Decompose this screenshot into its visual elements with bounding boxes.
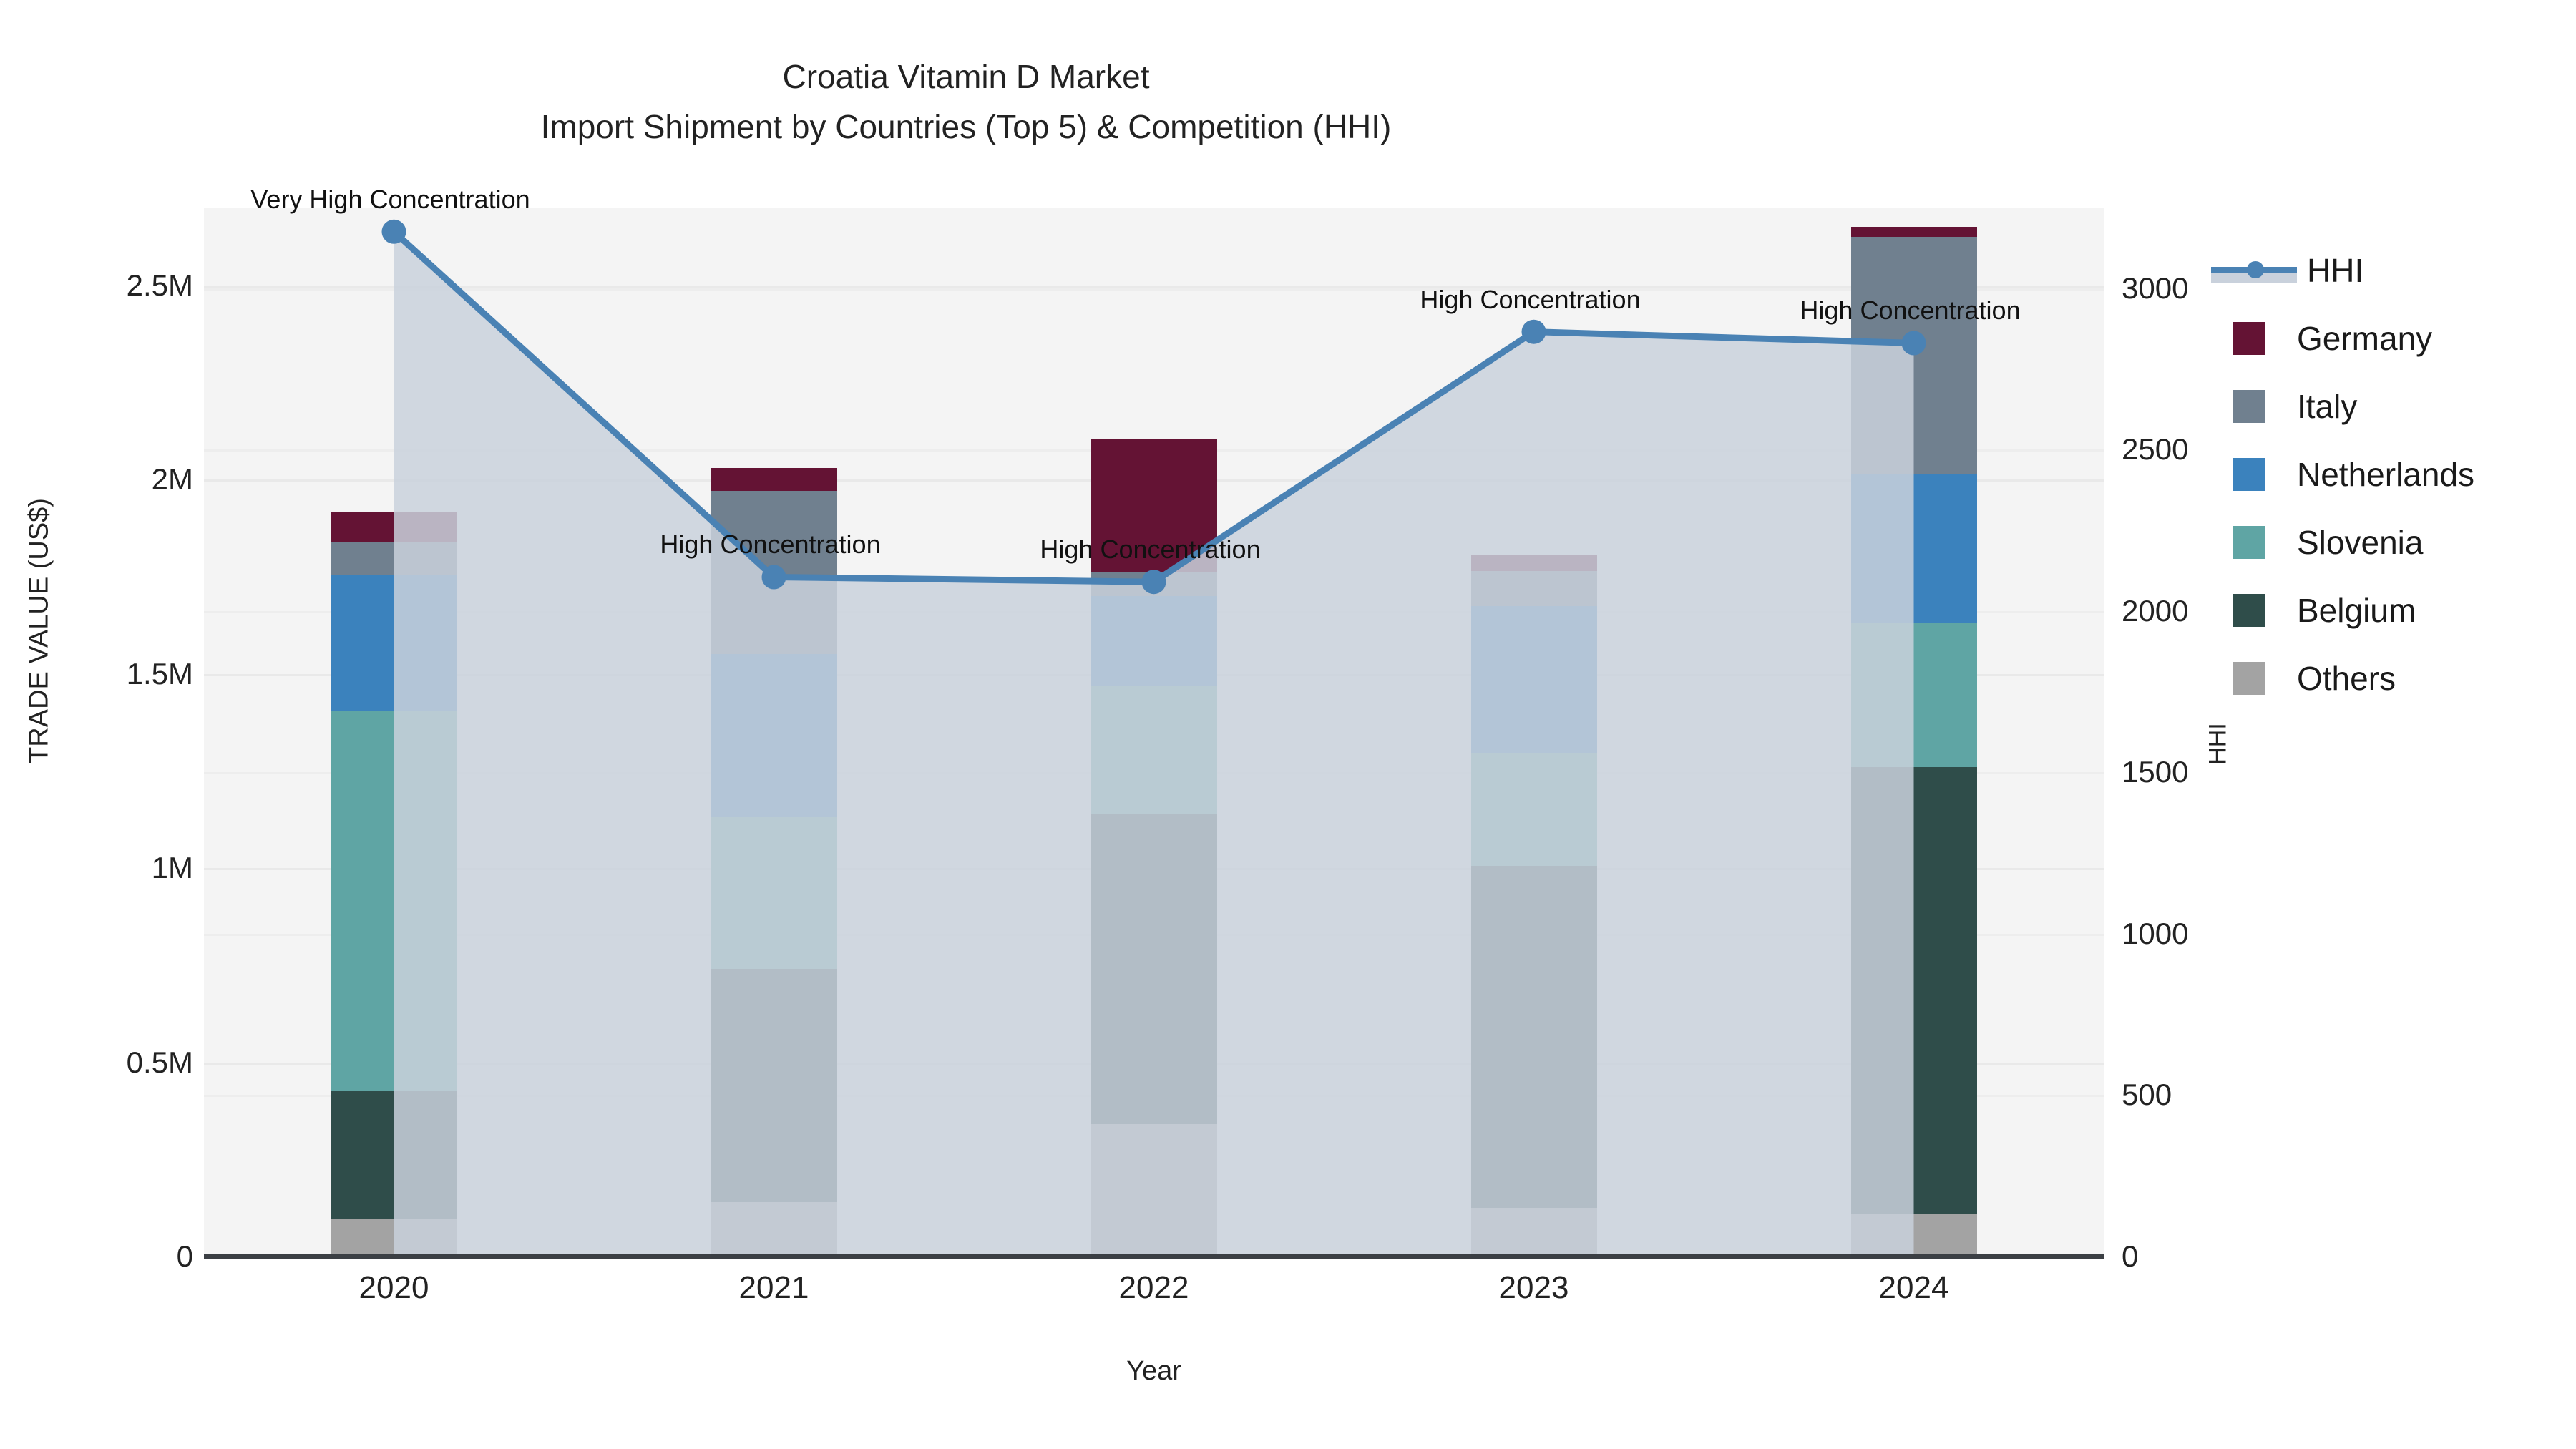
bar-segment-slovenia[interactable] [711, 817, 837, 969]
bar-segment-belgium[interactable] [1471, 866, 1597, 1208]
x-axis-title: Year [204, 1356, 2104, 1387]
legend-marker-dot [2247, 261, 2264, 278]
legend-item-label: Belgium [2297, 591, 2416, 630]
annotation-label: High Concentration [1800, 296, 2020, 326]
y-tick-label-left: 0.5M [0, 1045, 193, 1080]
legend-item-label: Netherlands [2297, 455, 2474, 494]
page-title: Croatia Vitamin D Market Import Shipment… [0, 57, 1932, 147]
bar-segment-slovenia[interactable] [1471, 753, 1597, 866]
y-tick-label-right: 0 [2122, 1239, 2336, 1274]
legend-item-others[interactable]: Others [2211, 644, 2555, 712]
bar-segment-belgium[interactable] [711, 969, 837, 1202]
chart-title-line-1: Croatia Vitamin D Market [783, 58, 1150, 95]
legend-color-swatch [2233, 458, 2265, 491]
legend-item-label: Italy [2297, 387, 2357, 426]
bar-segment-belgium[interactable] [1091, 814, 1217, 1124]
bar-segment-others[interactable] [1471, 1208, 1597, 1257]
y-tick-label-left: 1M [0, 851, 193, 885]
bar-segment-netherlands[interactable] [1851, 474, 1977, 623]
x-tick-label: 2022 [1011, 1270, 1297, 1306]
bar-segment-belgium[interactable] [1851, 767, 1977, 1214]
y-tick-label-left: 2M [0, 462, 193, 497]
bar-segment-netherlands[interactable] [1091, 596, 1217, 686]
annotation-label: High Concentration [1040, 535, 1260, 565]
legend-color-swatch [2233, 526, 2265, 559]
bar-segment-italy[interactable] [1091, 572, 1217, 596]
legend-color-swatch [2233, 594, 2265, 627]
bar-segment-slovenia[interactable] [1851, 623, 1977, 767]
legend-item-label: Germany [2297, 319, 2432, 358]
x-tick-label: 2021 [631, 1270, 917, 1306]
bar-segment-others[interactable] [1851, 1214, 1977, 1257]
x-tick-label: 2020 [251, 1270, 537, 1306]
y-tick-label-right: 1000 [2122, 917, 2336, 951]
legend-color-swatch [2233, 390, 2265, 423]
bar-segment-others[interactable] [331, 1219, 457, 1257]
x-tick-label: 2023 [1391, 1270, 1677, 1306]
legend-item-slovenia[interactable]: Slovenia [2211, 508, 2555, 576]
legend-item-label: Others [2297, 659, 2396, 698]
y-tick-label-left: 2.5M [0, 268, 193, 303]
bar-stack[interactable] [331, 208, 457, 1257]
bar-segment-others[interactable] [1091, 1124, 1217, 1257]
annotation-label: Very High Concentration [250, 185, 530, 215]
legend-color-swatch [2233, 322, 2265, 355]
bar-segment-italy[interactable] [711, 491, 837, 654]
bar-segment-italy[interactable] [1471, 571, 1597, 606]
legend: HHIGermanyItalyNetherlandsSloveniaBelgiu… [2211, 236, 2555, 712]
bar-segment-netherlands[interactable] [1471, 606, 1597, 753]
annotation-label: High Concentration [660, 530, 880, 560]
bar-segment-germany[interactable] [331, 512, 457, 542]
legend-color-swatch [2233, 662, 2265, 695]
legend-item-label: Slovenia [2297, 523, 2423, 562]
bar-stack[interactable] [711, 208, 837, 1257]
chart-title-line-2: Import Shipment by Countries (Top 5) & C… [0, 107, 1932, 146]
legend-item-label: HHI [2307, 251, 2363, 290]
legend-item-netherlands[interactable]: Netherlands [2211, 440, 2555, 508]
annotation-label: High Concentration [1420, 285, 1640, 315]
x-axis-line [204, 1254, 2104, 1259]
bar-stack[interactable] [1091, 208, 1217, 1257]
bar-segment-germany[interactable] [711, 468, 837, 492]
y-tick-label-left: 1.5M [0, 657, 193, 691]
bar-segment-germany[interactable] [1471, 555, 1597, 571]
bar-segment-italy[interactable] [1851, 237, 1977, 474]
bar-segment-slovenia[interactable] [331, 711, 457, 1091]
bar-segment-others[interactable] [711, 1202, 837, 1257]
legend-line-icon [2211, 254, 2297, 287]
x-tick-label: 2024 [1771, 1270, 2057, 1306]
y-tick-label-left: 0 [0, 1239, 193, 1274]
bar-segment-germany[interactable] [1851, 227, 1977, 237]
y-tick-label-right: 500 [2122, 1078, 2336, 1112]
bar-segment-slovenia[interactable] [1091, 686, 1217, 814]
bar-segment-netherlands[interactable] [711, 654, 837, 817]
bar-stack[interactable] [1471, 208, 1597, 1257]
bar-stack[interactable] [1851, 208, 1977, 1257]
legend-item-germany[interactable]: Germany [2211, 304, 2555, 372]
y-tick-label-right: 1500 [2122, 755, 2336, 789]
legend-item-italy[interactable]: Italy [2211, 372, 2555, 440]
legend-item-belgium[interactable]: Belgium [2211, 576, 2555, 644]
bar-segment-netherlands[interactable] [331, 575, 457, 711]
plot-area: Very High ConcentrationHigh Concentratio… [204, 208, 2104, 1257]
bar-segment-belgium[interactable] [331, 1091, 457, 1219]
legend-item-hhi[interactable]: HHI [2211, 236, 2555, 304]
bar-segment-italy[interactable] [331, 542, 457, 575]
